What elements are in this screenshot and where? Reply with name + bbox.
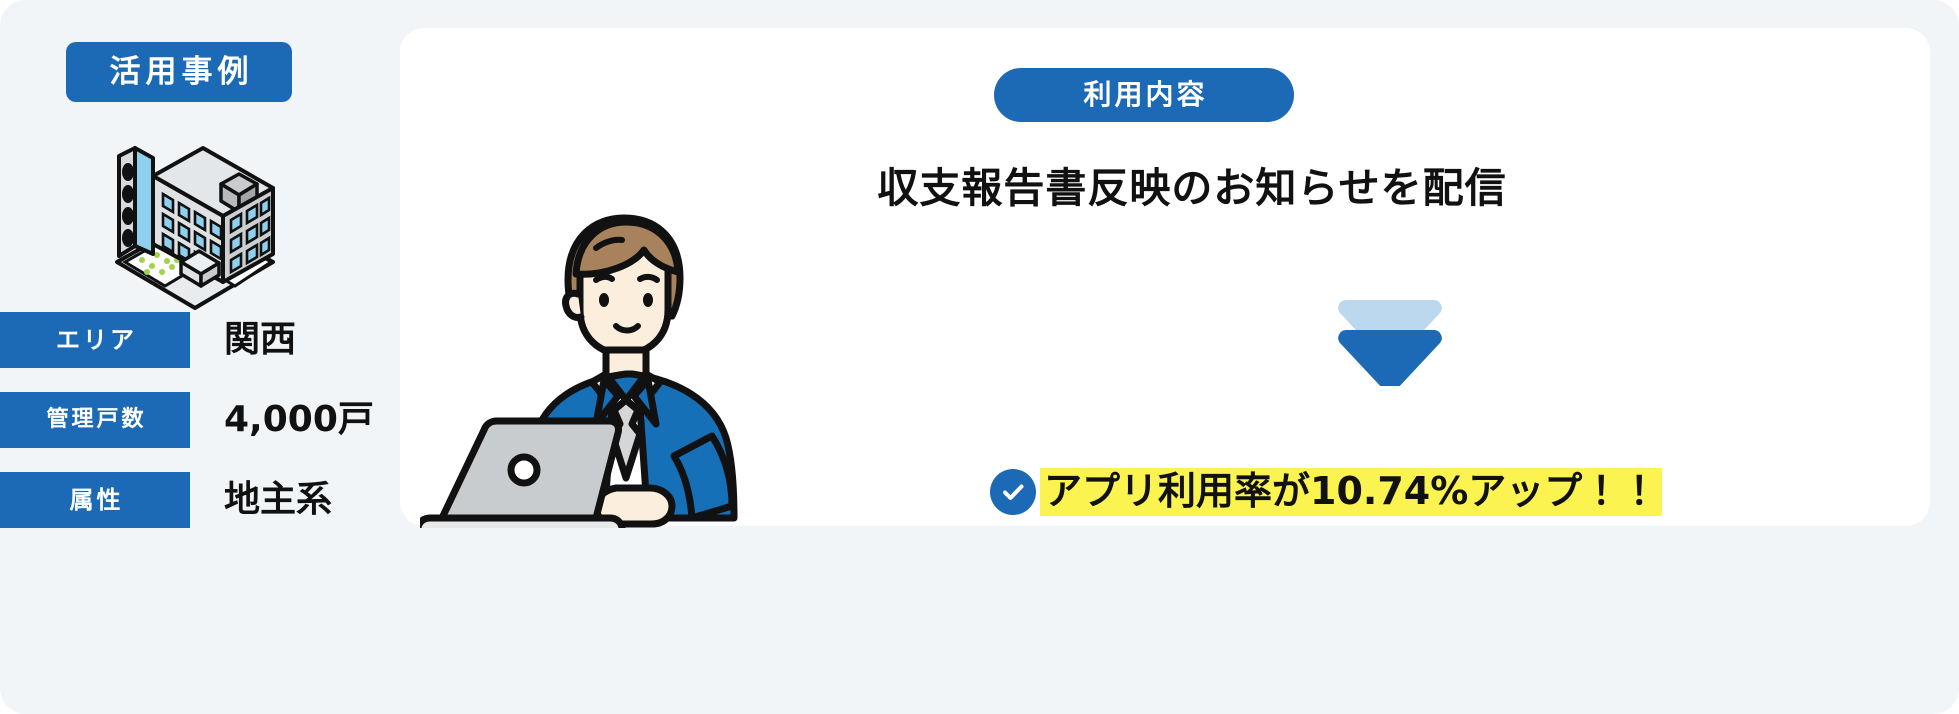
usage-pill-label: 利用内容 xyxy=(1080,81,1207,109)
usage-card: 利用内容 収支報告書反映のお知らせを配信 xyxy=(400,28,1930,526)
isometric-office-building-icon xyxy=(95,110,295,310)
businessman-with-laptop-icon xyxy=(420,208,800,528)
check-circle-icon xyxy=(990,469,1036,515)
usage-pill: 利用内容 xyxy=(994,68,1294,122)
spec-value-area: 関西 xyxy=(224,322,296,358)
spec-value-units: 4,000戸 xyxy=(224,402,374,438)
usage-headline: 収支報告書反映のお知らせを配信 xyxy=(852,168,1532,209)
spec-label-badge: 管理戸数 xyxy=(0,392,190,448)
spec-label-badge: 属性 xyxy=(0,472,190,528)
spec-label-area: エリア xyxy=(53,328,137,352)
result-text: アプリ利用率が10.74%アップ！！ xyxy=(1040,468,1662,516)
case-study-badge-label: 活用事例 xyxy=(105,57,254,88)
spec-row-area: エリア 関西 xyxy=(0,312,296,368)
spec-label-attribute: 属性 xyxy=(67,488,124,512)
result-line: アプリ利用率が10.74%アップ！！ xyxy=(990,468,1662,516)
spec-value-attribute: 地主系 xyxy=(224,482,332,518)
case-study-badge: 活用事例 xyxy=(66,42,292,102)
spec-label-badge: エリア xyxy=(0,312,190,368)
spec-label-units: 管理戸数 xyxy=(43,409,146,431)
spec-row-attribute: 属性 地主系 xyxy=(0,472,332,528)
case-study-card: 活用事例 xyxy=(0,0,1959,714)
spec-row-units: 管理戸数 4,000戸 xyxy=(0,392,374,448)
double-chevron-down-icon xyxy=(1330,286,1450,386)
sidebar: 活用事例 xyxy=(0,0,400,714)
